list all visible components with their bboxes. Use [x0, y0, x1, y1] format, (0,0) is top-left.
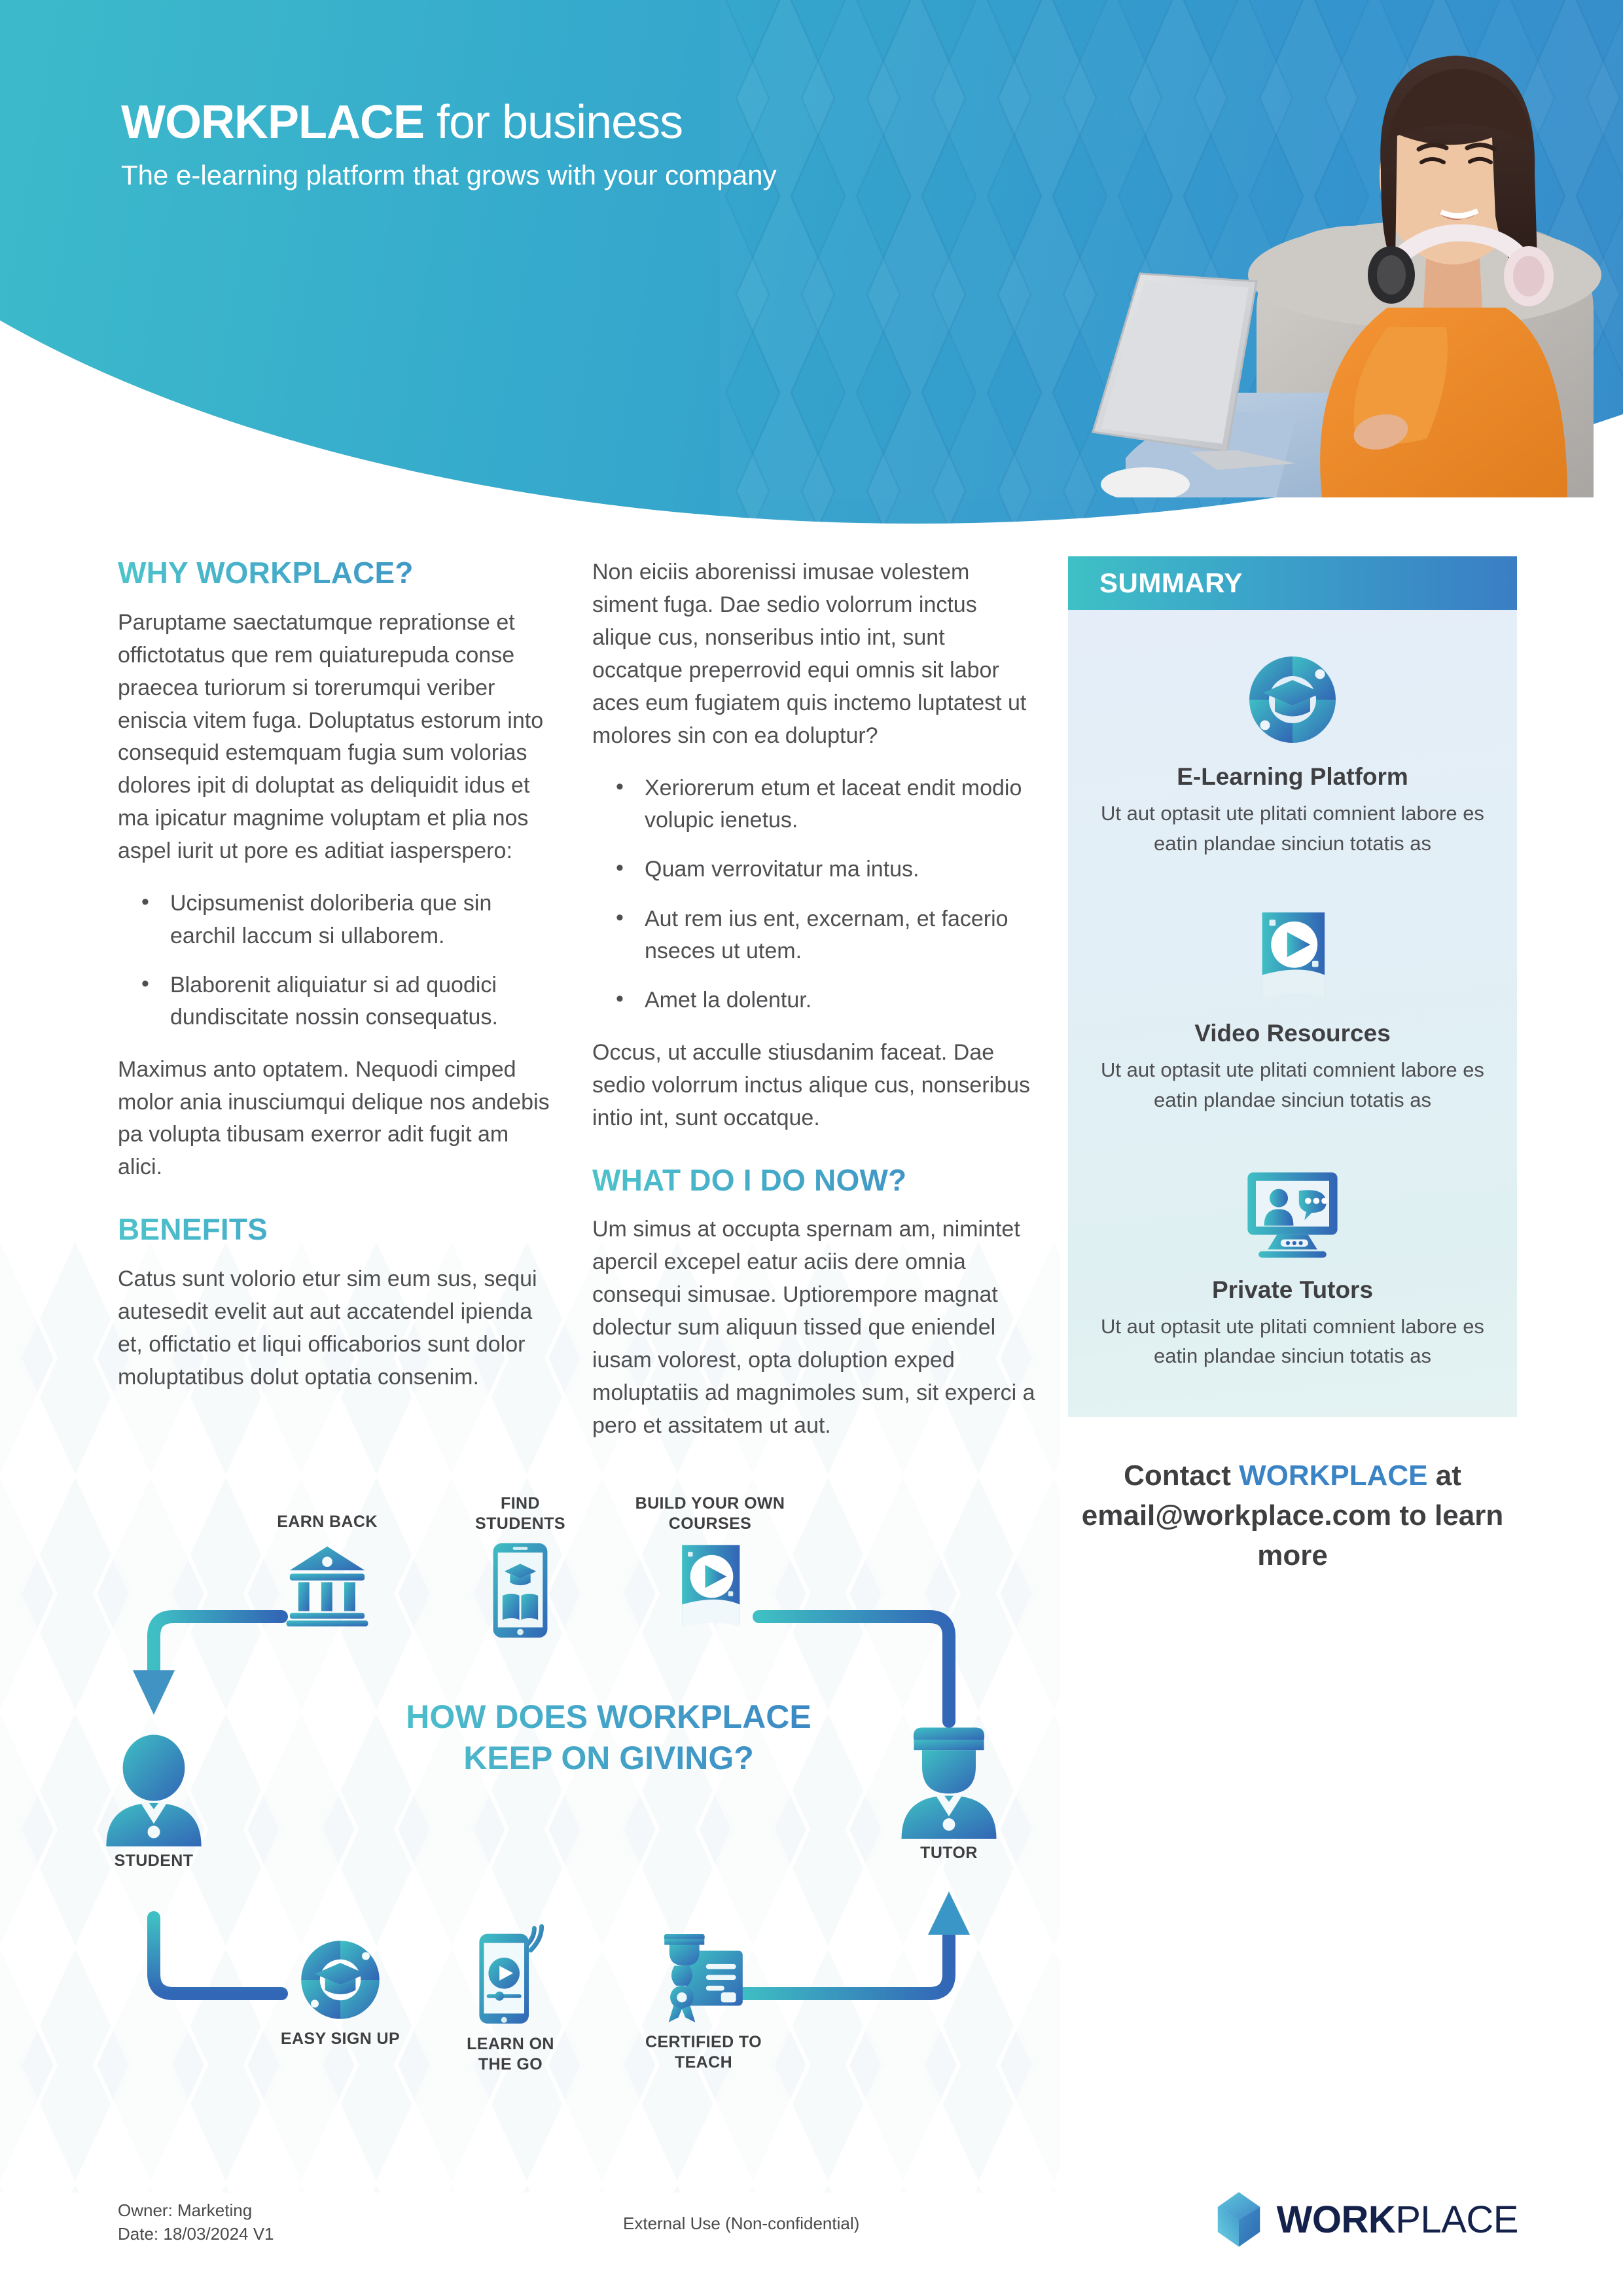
diagram-node-label: FIND STUDENTS [455, 1494, 586, 1534]
footer-owner-block: Owner: Marketing Date: 18/03/2024 V1 [118, 2199, 274, 2246]
column-one: WHY WORKPLACE? Paruptame saectatumque re… [118, 556, 556, 1414]
diagram-node-easy-sign-up: EASY SIGN UP [278, 1937, 402, 2049]
bullet-list-features: Xeriorerum etum et laceat endit modio vo… [592, 772, 1037, 1017]
list-item: Quam verrovitatur ma intus. [592, 853, 1037, 886]
video-book-icon [632, 1541, 789, 1633]
page-subtitle: The e-learning platform that grows with … [121, 157, 893, 193]
bullet-list-why: Ucipsumenist doloriberia que sin earchil… [118, 888, 556, 1033]
diagram-node-label: BUILD YOUR OWN COURSES [632, 1494, 789, 1534]
diagram-node-tutor: TUTOR [890, 1721, 1008, 1863]
page-title: WORKPLACE for business [121, 98, 1103, 148]
section-heading-what-do-i-do-now: WHAT DO I DO NOW? [592, 1164, 1037, 1197]
contact-prefix: Contact [1124, 1460, 1239, 1492]
footer-logo-text: WORKPLACE [1277, 2198, 1518, 2242]
paragraph: Catus sunt volorio etur sim eum sus, seq… [118, 1263, 556, 1394]
phone-play-icon [448, 1924, 573, 2028]
column-two: Non eiciis aborenissi imusae volestem si… [592, 556, 1037, 1462]
list-item: Blaborenit aliquiatur si ad quodici dund… [118, 969, 556, 1034]
diagram-node-build-courses: BUILD YOUR OWN COURSES [632, 1494, 789, 1633]
summary-item-title: Private Tutors [1094, 1276, 1491, 1304]
footer-date: Date: 18/03/2024 V1 [118, 2223, 274, 2246]
footer: Owner: Marketing Date: 18/03/2024 V1 Ext… [0, 2165, 1623, 2296]
diagram-node-label: CERTIFIED TO TEACH [638, 2032, 769, 2072]
contact-callout: Contact WORKPLACE at email@workplace.com… [1068, 1456, 1517, 1575]
list-item: Xeriorerum etum et laceat endit modio vo… [592, 772, 1037, 837]
footer-logo-light: PLACE [1395, 2198, 1518, 2241]
diagram-node-label: LEARN ON THE GO [448, 2034, 573, 2074]
paragraph: Non eiciis aborenissi imusae volestem si… [592, 556, 1037, 753]
cycle-diagram: HOW DOES WORKPLACE KEEP ON GIVING? STUDE… [85, 1525, 1054, 2114]
summary-item-description: Ut aut optasit ute plitati comnient labo… [1094, 798, 1491, 859]
header-text-block: WORKPLACE for business The e-learning pl… [121, 98, 1103, 193]
diagram-node-label: TUTOR [890, 1843, 1008, 1863]
summary-panel: SUMMARY E-Learning Platform Ut aut optas… [1068, 556, 1517, 1575]
phone-students-icon [455, 1541, 586, 1640]
hero-photo [929, 0, 1623, 497]
summary-panel-body: E-Learning Platform Ut aut optasit ute p… [1068, 610, 1517, 1417]
section-heading-benefits: BENEFITS [118, 1213, 556, 1246]
diagram-node-student: STUDENT [95, 1734, 213, 1871]
summary-item-video-resources: Video Resources Ut aut optasit ute plita… [1094, 907, 1491, 1115]
diagram-node-label: EASY SIGN UP [278, 2029, 402, 2049]
contact-brand: WORKPLACE [1239, 1460, 1427, 1492]
diagram-node-earn-back: EARN BACK [262, 1512, 393, 1626]
diagram-node-certified: CERTIFIED TO TEACH [638, 1934, 769, 2072]
paragraph: Maximus anto optatem. Nequodi cimped mol… [118, 1054, 556, 1185]
summary-item-description: Ut aut optasit ute plitati comnient labo… [1094, 1312, 1491, 1372]
footer-owner: Owner: Marketing [118, 2199, 274, 2223]
paragraph: Um simus at occupta spernam am, nimintet… [592, 1213, 1037, 1443]
footer-classification: External Use (Non-confidential) [623, 2214, 859, 2234]
summary-item-title: Video Resources [1094, 1020, 1491, 1047]
section-heading-why-workplace: WHY WORKPLACE? [118, 556, 556, 590]
diagram-node-label: STUDENT [95, 1851, 213, 1871]
diagram-title: HOW DOES WORKPLACE KEEP ON GIVING? [366, 1696, 851, 1778]
graduation-cap-circle-icon [1094, 651, 1491, 749]
summary-title: SUMMARY [1099, 567, 1243, 599]
footer-logo-bold: WORK [1277, 2198, 1396, 2241]
diagram-node-label: EARN BACK [262, 1512, 393, 1532]
diagram-node-find-students: FIND STUDENTS [455, 1494, 586, 1640]
paragraph: Paruptame saectatumque reprationse et of… [118, 607, 556, 869]
summary-item-description: Ut aut optasit ute plitati comnient labo… [1094, 1055, 1491, 1115]
diagram-node-learn-on-the-go: LEARN ON THE GO [448, 1924, 573, 2074]
summary-panel-header: SUMMARY [1068, 556, 1517, 610]
summary-item-title: E-Learning Platform [1094, 763, 1491, 791]
monitor-tutor-chat-icon [1094, 1164, 1491, 1262]
graduate-person-icon [890, 1721, 1008, 1843]
person-icon [95, 1734, 213, 1851]
video-book-icon [1094, 907, 1491, 1005]
graduation-cap-circle-icon [278, 1937, 402, 2022]
bank-icon [262, 1541, 393, 1626]
paragraph: Occus, ut acculle stiusdanim faceat. Dae… [592, 1037, 1037, 1135]
summary-item-private-tutors: Private Tutors Ut aut optasit ute plitat… [1094, 1164, 1491, 1372]
certificate-icon [638, 1934, 769, 2026]
list-item: Aut rem ius ent, excernam, et facerio ns… [592, 903, 1037, 968]
cube-logo-icon [1215, 2191, 1262, 2248]
list-item: Ucipsumenist doloriberia que sin earchil… [118, 888, 556, 952]
list-item: Amet la dolentur. [592, 984, 1037, 1016]
footer-logo: WORKPLACE [1215, 2191, 1518, 2248]
summary-item-e-learning-platform: E-Learning Platform Ut aut optasit ute p… [1094, 651, 1491, 859]
header-banner: WORKPLACE for business The e-learning pl… [0, 0, 1623, 524]
